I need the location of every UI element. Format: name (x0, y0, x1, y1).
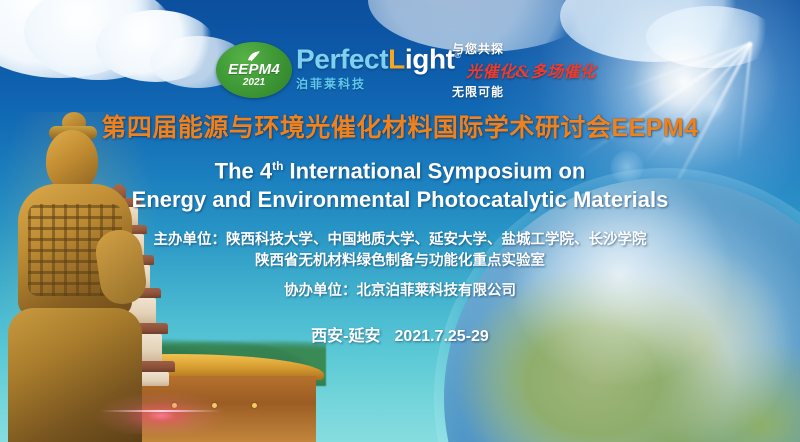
conference-poster: EEPM4 2021 PerfectLight® 泊菲莱科技 与您共探 光催化&… (0, 0, 800, 442)
ground-light-burst (86, 388, 236, 434)
perfectlight-logo: PerfectLight® 泊菲莱科技 (296, 40, 446, 100)
eepm4-badge: EEPM4 2021 (216, 42, 292, 98)
organizers-line-2: 陕西省无机材料绿色制备与功能化重点实验室 (0, 251, 800, 272)
organizers-block: 主办单位：陕西科技大学、中国地质大学、延安大学、盐城工学院、长沙学院 陕西省无机… (0, 230, 800, 302)
venue-text: 西安-延安 (311, 328, 380, 345)
perfectlight-wordmark: PerfectLight® (296, 40, 446, 74)
english-title-prefix: The 4 (215, 158, 272, 183)
slogan-line-2: 光催化&多场催化 (466, 58, 652, 82)
sponsor-slogan: 与您共探 光催化&多场催化 无限可能 (452, 40, 652, 102)
organizers-line-1: 主办单位：陕西科技大学、中国地质大学、延安大学、盐城工学院、长沙学院 (0, 230, 800, 251)
english-title-suffix: International Symposium on (283, 158, 585, 183)
eepm4-acronym: EEPM4 (228, 62, 280, 77)
date-text: 2021.7.25-29 (395, 328, 489, 345)
chinese-title: 第四届能源与环境光催化材料国际学术研讨会EEPM4 (0, 112, 800, 144)
english-title: The 4th International Symposium on Energ… (0, 152, 800, 214)
logo-bar: EEPM4 2021 PerfectLight® 泊菲莱科技 与您共探 光催化&… (0, 34, 800, 104)
co-organizer-line: 协办单位：北京泊菲莱科技有限公司 (0, 281, 800, 302)
slogan-line-3: 无限可能 (452, 83, 652, 100)
venue-and-date: 西安-延安2021.7.25-29 (0, 322, 800, 346)
logo-word-light-initial: L (388, 43, 405, 74)
ordinal-suffix: th (272, 159, 283, 173)
hall-stud (252, 403, 257, 408)
english-title-line-2: Energy and Environmental Photocatalytic … (0, 185, 800, 214)
logo-word-perfect: Perfect (296, 43, 388, 74)
eepm4-year: 2021 (243, 77, 265, 89)
english-title-line-1: The 4th International Symposium on (0, 152, 800, 185)
perfectlight-chinese-name: 泊菲莱科技 (296, 75, 446, 92)
logo-word-light-rest: ight (405, 43, 455, 74)
slogan-line-1: 与您共探 (452, 40, 652, 57)
poster-content: 第四届能源与环境光催化材料国际学术研讨会EEPM4 The 4th Intern… (0, 112, 800, 346)
